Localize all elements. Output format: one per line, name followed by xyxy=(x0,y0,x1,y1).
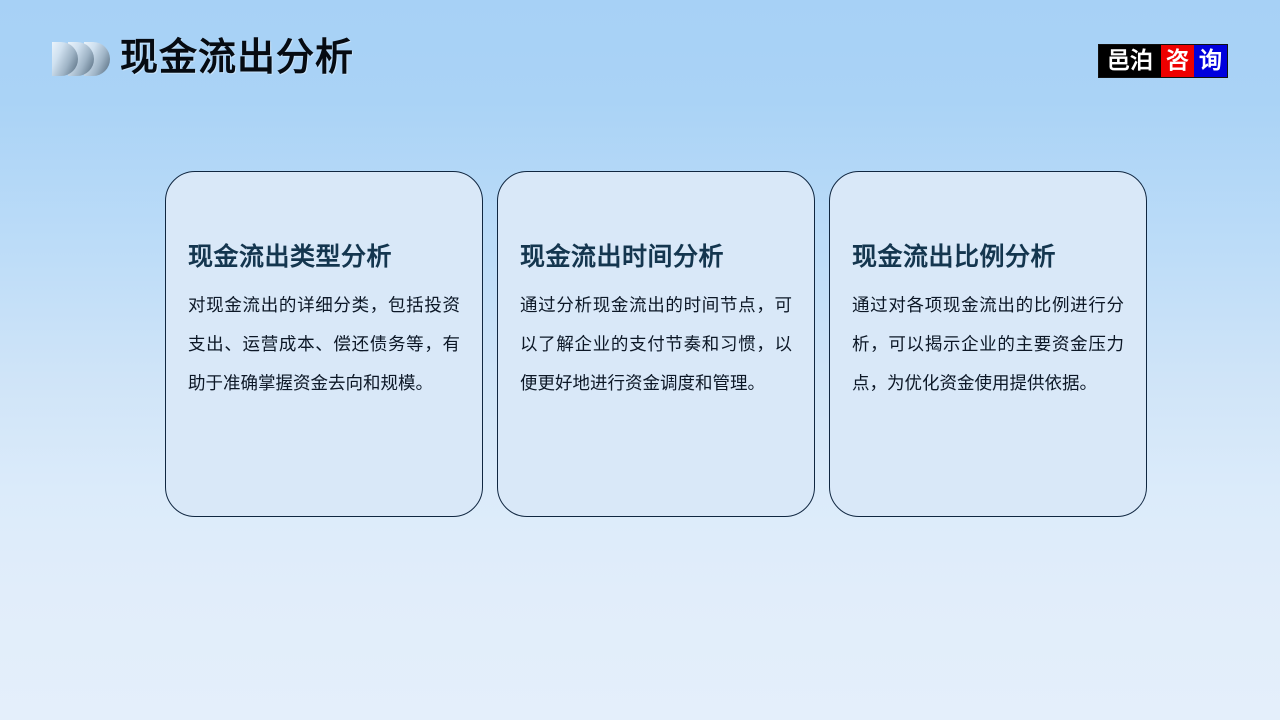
card-cash-outflow-type[interactable]: 现金流出类型分析 对现金流出的详细分类，包括投资支出、运营成本、偿还债务等，有助… xyxy=(165,171,483,517)
logo-segment-blue: 询 xyxy=(1194,45,1227,77)
card-title: 现金流出类型分析 xyxy=(188,242,460,272)
brand-logo[interactable]: 邑泊 咨 询 xyxy=(1098,44,1228,78)
logo-segment-red: 咨 xyxy=(1161,45,1194,77)
card-title: 现金流出时间分析 xyxy=(520,242,792,272)
logo-segment-black: 邑泊 xyxy=(1099,45,1161,77)
card-cash-outflow-proportion[interactable]: 现金流出比例分析 通过对各项现金流出的比例进行分析，可以揭示企业的主要资金压力点… xyxy=(829,171,1147,517)
card-body: 对现金流出的详细分类，包括投资支出、运营成本、偿还债务等，有助于准确掌握资金去向… xyxy=(188,286,460,403)
title-group: 现金流出分析 xyxy=(52,30,354,86)
card-body: 通过分析现金流出的时间节点，可以了解企业的支付节奏和习惯，以便更好地进行资金调度… xyxy=(520,286,792,403)
slide-header: 现金流出分析 邑泊 咨 询 xyxy=(0,0,1280,110)
card-title: 现金流出比例分析 xyxy=(852,242,1124,272)
card-body: 通过对各项现金流出的比例进行分析，可以揭示企业的主要资金压力点，为优化资金使用提… xyxy=(852,286,1124,403)
card-cash-outflow-timing[interactable]: 现金流出时间分析 通过分析现金流出的时间节点，可以了解企业的支付节奏和习惯，以便… xyxy=(497,171,815,517)
slide-root: 现金流出分析 邑泊 咨 询 现金流出类型分析 对现金流出的详细分类，包括投资支出… xyxy=(0,0,1280,720)
card-group: 现金流出类型分析 对现金流出的详细分类，包括投资支出、运营成本、偿还债务等，有助… xyxy=(165,171,1147,517)
crescent-bullets-icon xyxy=(52,42,110,76)
page-title: 现金流出分析 xyxy=(120,39,354,77)
